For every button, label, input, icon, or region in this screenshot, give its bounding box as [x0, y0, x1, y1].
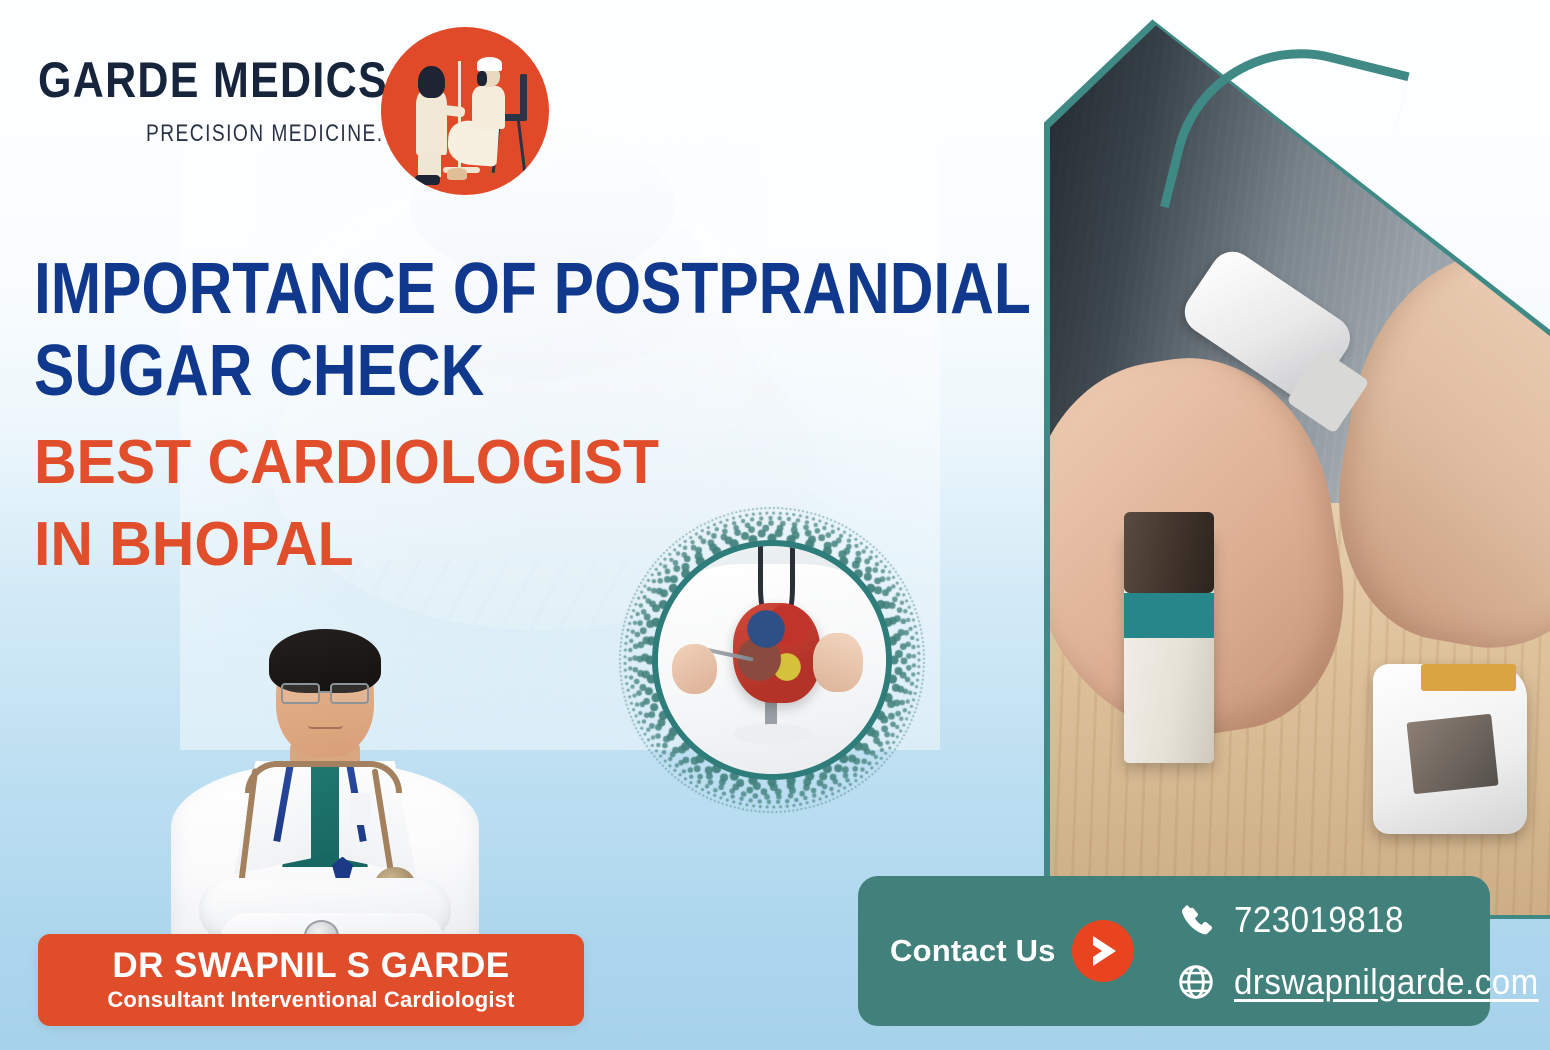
heart-model-inset — [617, 505, 927, 815]
meter-display — [1407, 714, 1499, 794]
headline-line-3: BEST CARDIOLOGIST — [34, 422, 956, 504]
nurse-hair — [418, 66, 445, 98]
patient-cap — [477, 57, 502, 70]
inset-photo-ring — [652, 540, 892, 780]
anatomical-heart-icon — [733, 603, 820, 703]
brand-logo[interactable]: GARDE MEDICS PRECISION MEDICINE. — [38, 55, 543, 225]
id-badge — [350, 793, 371, 825]
vial-cap — [1124, 512, 1214, 593]
website-row[interactable]: drswapnilgarde.com — [1176, 961, 1550, 1003]
play-arrow-icon[interactable] — [1072, 920, 1134, 982]
meter-test-strip — [1421, 664, 1516, 691]
contact-details: 723019818 drswapnilgarde.com — [1176, 899, 1550, 1003]
headline-line-1: IMPORTANCE OF POSTPRANDIAL — [34, 248, 849, 330]
phone-icon — [1176, 900, 1216, 940]
doctor-nameplate: DR SWAPNIL S GARDE Consultant Interventi… — [38, 934, 584, 1026]
nurse-shoe — [415, 175, 440, 185]
right-hand — [813, 633, 863, 692]
phone-number: 723019818 — [1234, 899, 1404, 941]
doctor-portrait — [150, 608, 500, 963]
contact-us-label: Contact Us — [890, 933, 1056, 969]
headline-line-2: SUGAR CHECK — [34, 330, 849, 412]
phone-row[interactable]: 723019818 — [1176, 899, 1550, 941]
poster-canvas: GARDE MEDICS PRECISION MEDICINE. IMPORTA… — [0, 0, 1550, 1050]
nurse-body — [416, 91, 446, 155]
eyeglass-lens-left — [281, 683, 320, 704]
vial-label-band — [1124, 593, 1214, 638]
nurse-patient-illustration-icon — [381, 27, 549, 195]
smile — [308, 725, 343, 729]
doctor-name: DR SWAPNIL S GARDE — [112, 947, 509, 984]
contact-panel: Contact Us 723019818 drswapnilgarde.com — [858, 876, 1490, 1026]
heart-model-base — [733, 724, 811, 745]
eyeglass-bridge — [320, 691, 332, 693]
nurse-leg — [418, 151, 442, 176]
left-hand — [672, 644, 718, 694]
website-url: drswapnilgarde.com — [1234, 961, 1539, 1003]
globe-icon — [1176, 962, 1216, 1002]
patient-hair — [477, 71, 487, 86]
doctor-role: Consultant Interventional Cardiologist — [107, 988, 514, 1012]
patient-body — [472, 86, 506, 130]
stool-leg — [517, 119, 527, 173]
eyeglass-lens-right — [330, 683, 369, 704]
patient-foot — [447, 168, 467, 180]
